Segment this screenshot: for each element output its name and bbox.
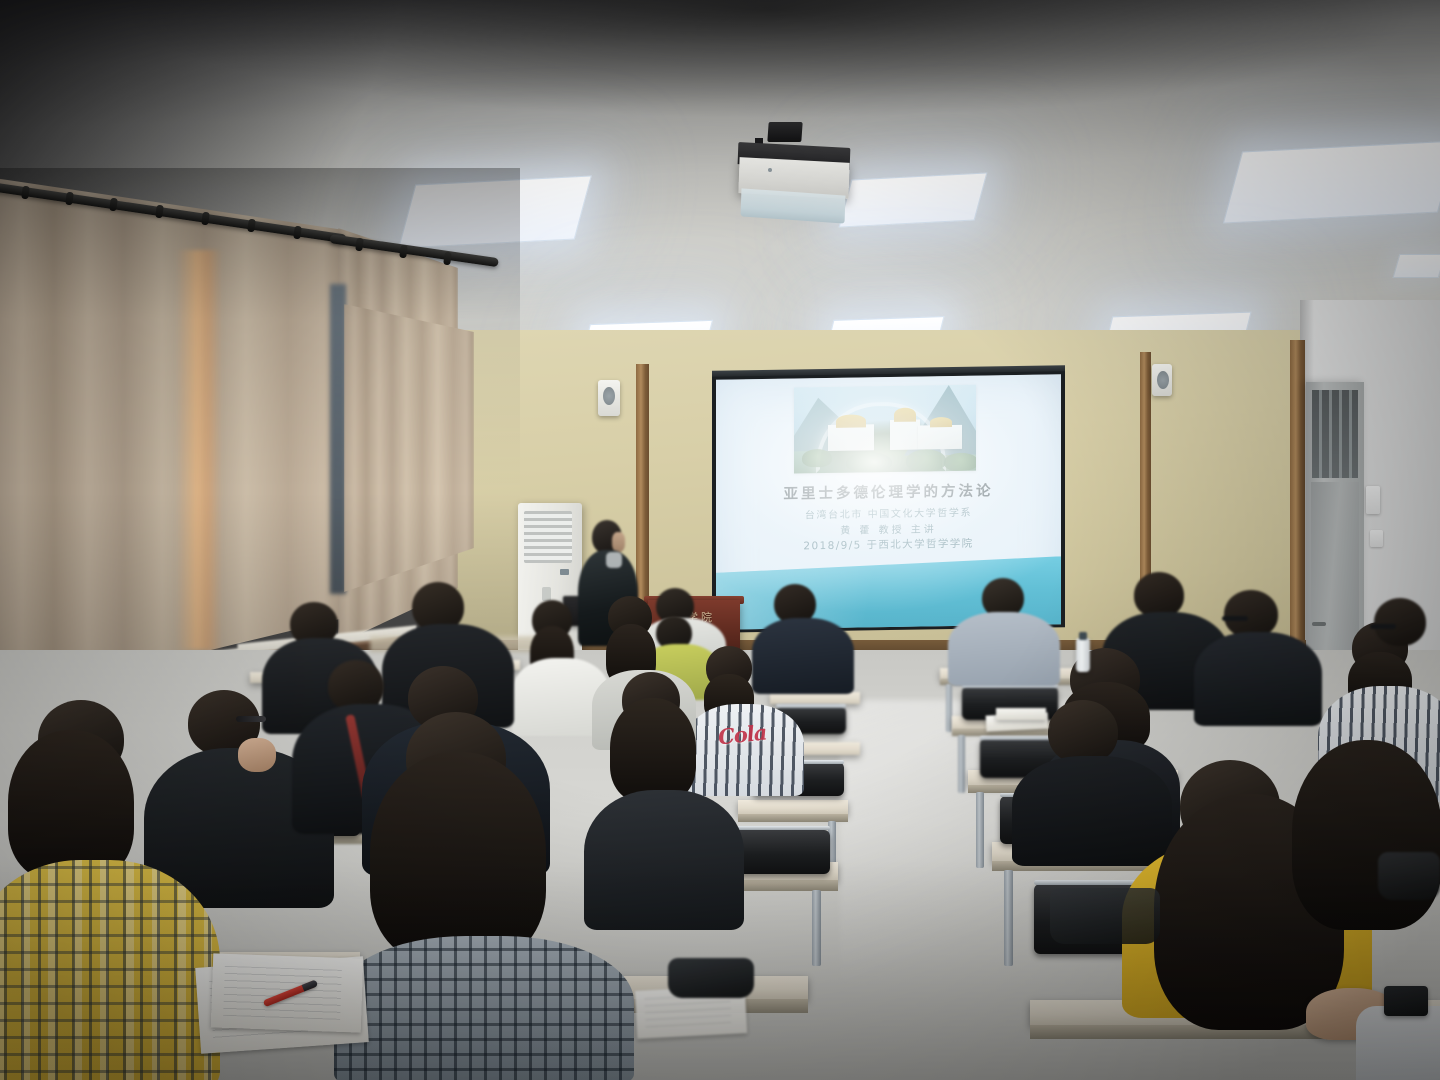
photo-building-roof (894, 408, 916, 422)
projector-ceiling-mount (767, 122, 802, 142)
light-switch-plate[interactable] (1366, 486, 1380, 514)
power-socket-plate[interactable] (1370, 530, 1383, 547)
photo-foliage (846, 452, 892, 473)
wall-speaker-icon (598, 380, 620, 416)
lecturer-shirt-collar (606, 552, 622, 568)
photo-building (890, 420, 920, 450)
student-head (1374, 598, 1426, 646)
student-glasses-icon (1370, 624, 1396, 629)
photo-building (918, 425, 962, 450)
wall-speaker-icon (1152, 364, 1172, 396)
scene-floor-shading (0, 650, 1440, 1080)
ac-display-panel (560, 569, 569, 575)
door-handle[interactable] (1312, 622, 1326, 626)
slide-title: 亚里士多德伦理学的方法论 (716, 478, 1061, 504)
photo-foliage (802, 449, 832, 467)
wall-wood-trim (1290, 340, 1305, 640)
lecture-hall-photo: 亚里士多德伦理学的方法论 台湾台北市 中国文化大学哲学系 黄 藿 教授 主讲 2… (0, 0, 1440, 1080)
projector-status-led (768, 168, 772, 172)
ac-brand-logo (542, 587, 551, 601)
door-glass-panel (1312, 390, 1358, 478)
photo-building (828, 424, 874, 451)
ceiling-light-panel (1223, 140, 1440, 223)
slide-photo-image (794, 385, 976, 474)
photo-foliage (944, 453, 976, 472)
wall-wood-trim (1140, 352, 1151, 592)
photo-building-roof (930, 417, 952, 427)
student-glasses-icon (1222, 616, 1248, 621)
lecturer-face (612, 532, 625, 552)
photo-building-roof (836, 414, 866, 427)
ac-vent-grill (524, 511, 572, 563)
ceiling-light-panel (839, 172, 988, 227)
ceiling-light-panel (1393, 254, 1440, 278)
student-head (1224, 590, 1278, 638)
photo-foliage (906, 449, 946, 472)
